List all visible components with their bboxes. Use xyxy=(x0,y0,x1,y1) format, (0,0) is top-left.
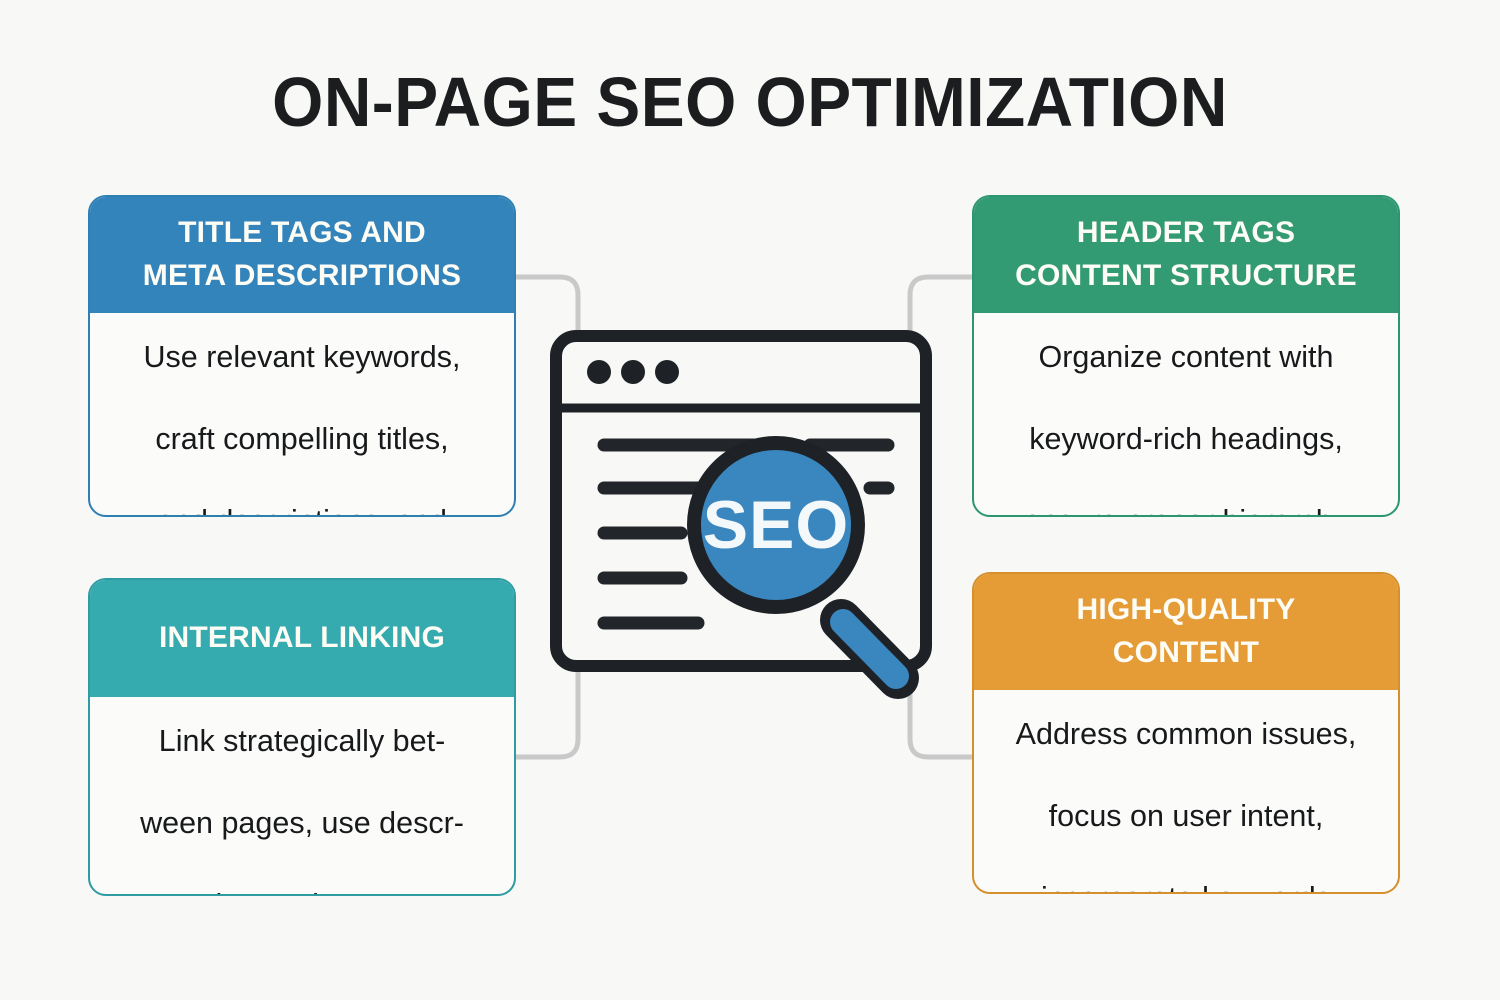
page-title: ON-PAGE SEO OPTIMIZATION xyxy=(45,62,1455,142)
card-high-quality-content[interactable]: HIGH-QUALITY CONTENT Address common issu… xyxy=(972,572,1400,894)
card-title-tags-and-meta-descriptions[interactable]: TITLE TAGS AND META DESCRIPTIONS Use rel… xyxy=(88,195,516,517)
card-header-internal-linking: INTERNAL LINKING xyxy=(90,580,514,697)
card-body-line: Use relevant keywords, xyxy=(112,337,492,378)
card-body-line: incorporate keywords xyxy=(996,878,1376,894)
browser-dot-icon xyxy=(621,360,645,384)
browser-dot-icon xyxy=(655,360,679,384)
infographic-canvas: ON-PAGE SEO OPTIMIZATION xyxy=(0,0,1500,1000)
card-header-line: HIGH-QUALITY xyxy=(988,588,1384,631)
card-body-line: ensure proper hierarchy xyxy=(996,501,1376,517)
seo-illustration: SEO xyxy=(548,328,952,718)
card-body-title-tags-and-meta-descriptions: Use relevant keywords, craft compelling … xyxy=(90,313,514,517)
browser-dot-icon xyxy=(587,360,611,384)
card-header-line: CONTENT STRUCTURE xyxy=(988,254,1384,297)
card-body-line: Link strategically bet- xyxy=(112,721,492,762)
card-header-line: HEADER TAGS xyxy=(988,211,1384,254)
card-header-header-tags-content-structure: HEADER TAGS CONTENT STRUCTURE xyxy=(974,197,1398,313)
card-header-line: TITLE TAGS AND xyxy=(104,211,500,254)
card-body-line: Organize content with xyxy=(996,337,1376,378)
card-header-tags-content-structure[interactable]: HEADER TAGS CONTENT STRUCTURE Organize c… xyxy=(972,195,1400,517)
card-body-internal-linking: Link strategically bet- ween pages, use … xyxy=(90,697,514,896)
card-body-line: ptive anchor text xyxy=(112,885,492,896)
card-header-line: CONTENT xyxy=(988,631,1384,674)
card-header-line: INTERNAL LINKING xyxy=(104,616,500,659)
card-internal-linking[interactable]: INTERNAL LINKING Link strategically bet-… xyxy=(88,578,516,896)
card-body-high-quality-content: Address common issues, focus on user int… xyxy=(974,690,1398,894)
card-header-line: META DESCRIPTIONS xyxy=(104,254,500,297)
card-header-high-quality-content: HIGH-QUALITY CONTENT xyxy=(974,574,1398,690)
card-body-line: keyword-rich headings, xyxy=(996,419,1376,460)
card-body-line: Address common issues, xyxy=(996,714,1376,755)
seo-badge-label: SEO xyxy=(703,487,850,563)
card-body-line: craft compelling titles, xyxy=(112,419,492,460)
card-body-header-tags-content-structure: Organize content with keyword-rich headi… xyxy=(974,313,1398,517)
card-header-title-tags-and-meta-descriptions: TITLE TAGS AND META DESCRIPTIONS xyxy=(90,197,514,313)
card-body-line: focus on user intent, xyxy=(996,796,1376,837)
card-body-line: and descriptions, and xyxy=(112,501,492,517)
card-body-line: ween pages, use descr- xyxy=(112,803,492,844)
